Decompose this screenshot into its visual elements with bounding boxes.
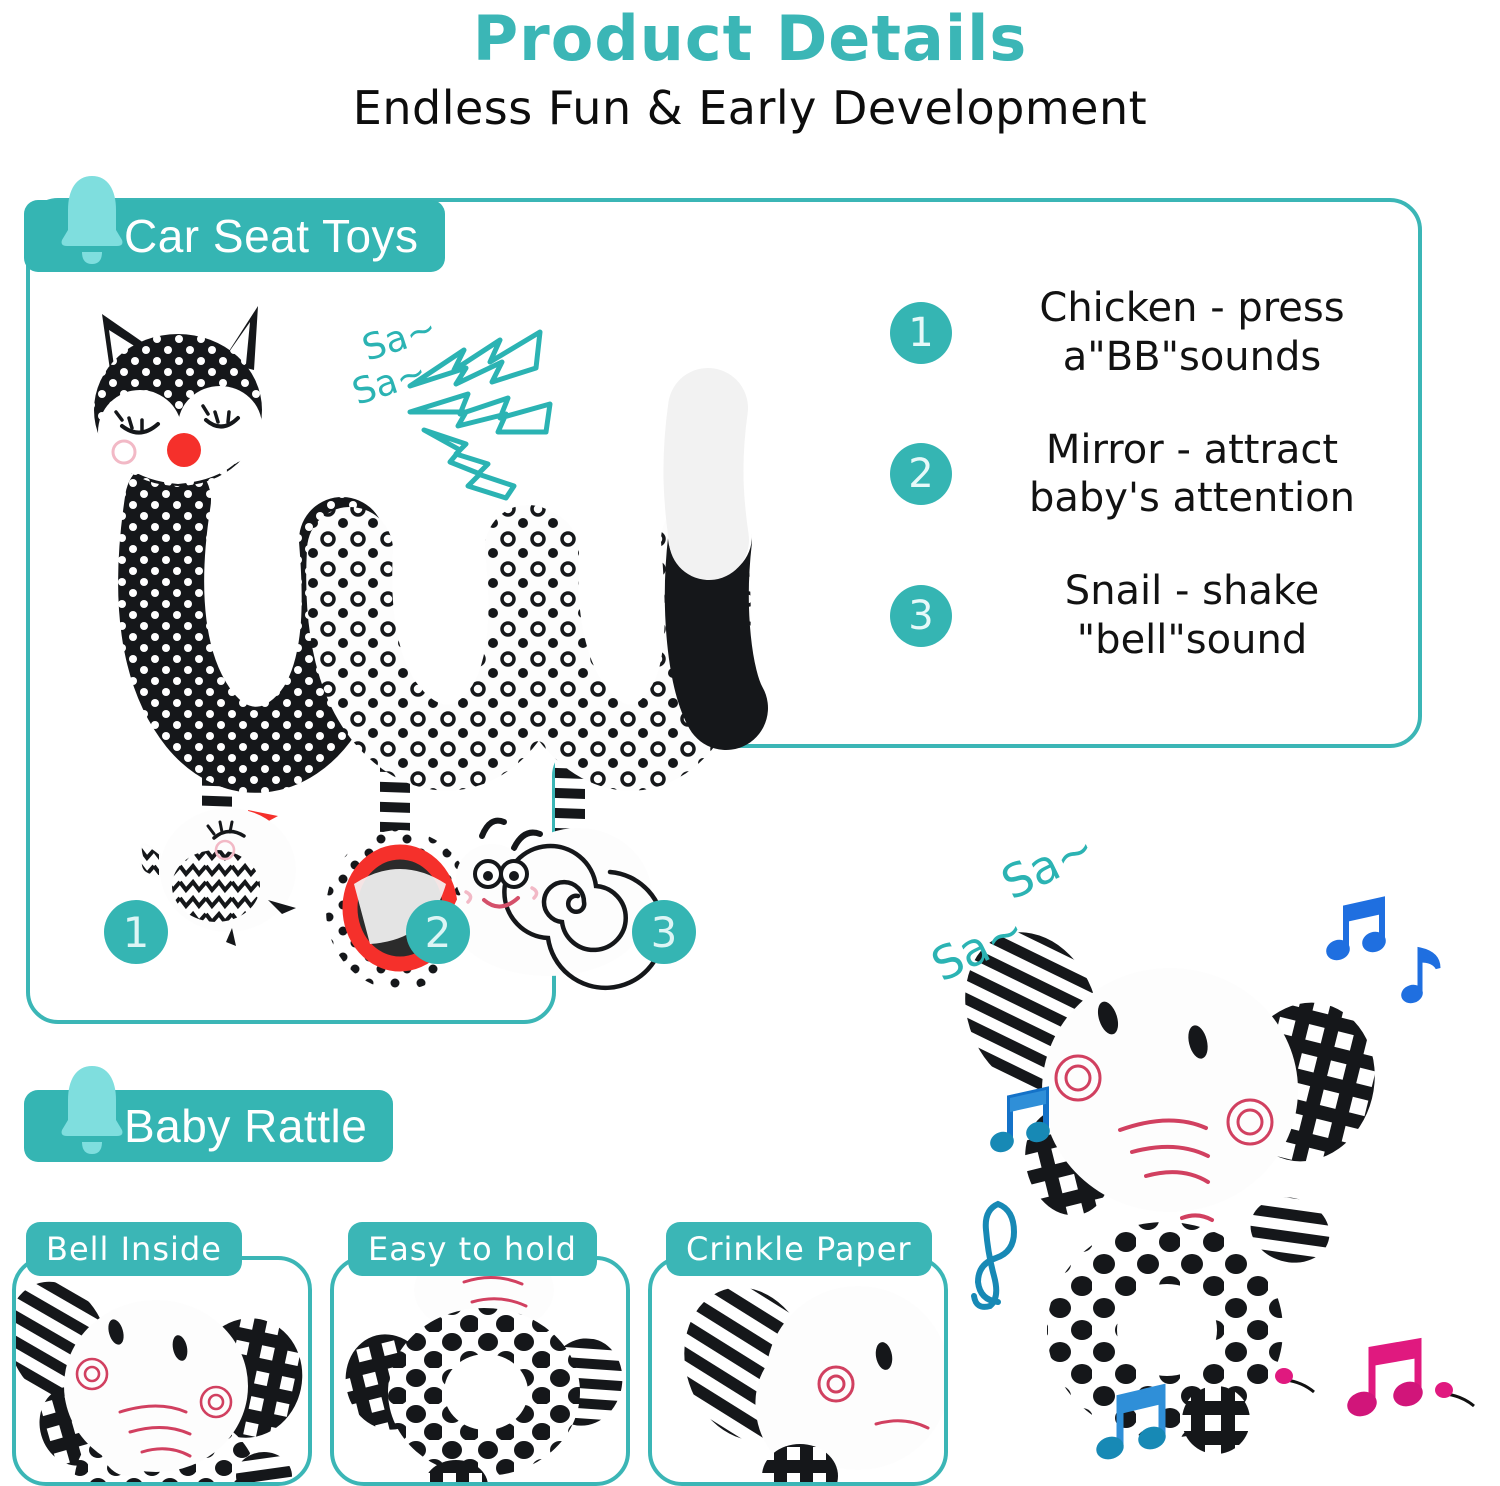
bell-icon: [54, 1058, 130, 1158]
elephant-rattle-photo: [334, 1260, 630, 1486]
rattle-tab-easy-to-hold[interactable]: Easy to hold: [348, 1222, 597, 1276]
badge-car-seat-toys: Car Seat Toys: [24, 200, 445, 272]
elephant-rattle-photo: [16, 1260, 312, 1486]
snail-toy: [448, 812, 678, 992]
sound-text-elephant-1: Sa~: [993, 820, 1103, 911]
rattle-feature-card-crinkle-paper: [648, 1256, 948, 1486]
badge-baby-rattle: Baby Rattle: [24, 1090, 393, 1162]
feature-text-2: Mirror - attract baby's attention: [974, 426, 1410, 524]
music-note-icon: [1398, 938, 1454, 1008]
feature-text-1: Chicken - press a"BB"sounds: [974, 284, 1410, 382]
feature-item-3: 3 Snail - shake "bell"sound: [890, 567, 1410, 665]
feature-item-1: 1 Chicken - press a"BB"sounds: [890, 284, 1410, 382]
rattle-tab-bell-inside[interactable]: Bell Inside: [26, 1222, 242, 1276]
feature-number-3: 3: [890, 585, 952, 647]
rattle-tab-crinkle-paper[interactable]: Crinkle Paper: [666, 1222, 932, 1276]
music-note-icon: [1336, 1336, 1446, 1436]
page-header: Product Details Endless Fun & Early Deve…: [0, 0, 1500, 135]
treble-clef-icon: [960, 1180, 1030, 1310]
feature-list: 1 Chicken - press a"BB"sounds 2 Mirror -…: [890, 284, 1410, 709]
music-note-icon: [986, 1082, 1062, 1162]
page-subtitle: Endless Fun & Early Development: [0, 81, 1500, 135]
page-title: Product Details: [0, 4, 1500, 73]
music-note-icon: [1090, 1378, 1180, 1474]
bell-icon: [54, 168, 130, 268]
spiral-marker-2: 2: [406, 900, 470, 964]
feature-item-2: 2 Mirror - attract baby's attention: [890, 426, 1410, 524]
feature-text-3: Snail - shake "bell"sound: [974, 567, 1410, 665]
music-note-icon: [1272, 1358, 1332, 1408]
feature-number-1: 1: [890, 302, 952, 364]
badge-label-car-seat-toys: Car Seat Toys: [124, 209, 419, 263]
spiral-marker-1: 1: [104, 900, 168, 964]
spiral-marker-3: 3: [632, 900, 696, 964]
music-note-icon: [1320, 890, 1400, 970]
badge-label-baby-rattle: Baby Rattle: [124, 1099, 367, 1153]
feature-number-2: 2: [890, 443, 952, 505]
rattle-feature-card-bell-inside: [12, 1256, 312, 1486]
rattle-feature-card-easy-to-hold: [330, 1256, 630, 1486]
elephant-rattle-photo: [652, 1260, 948, 1486]
